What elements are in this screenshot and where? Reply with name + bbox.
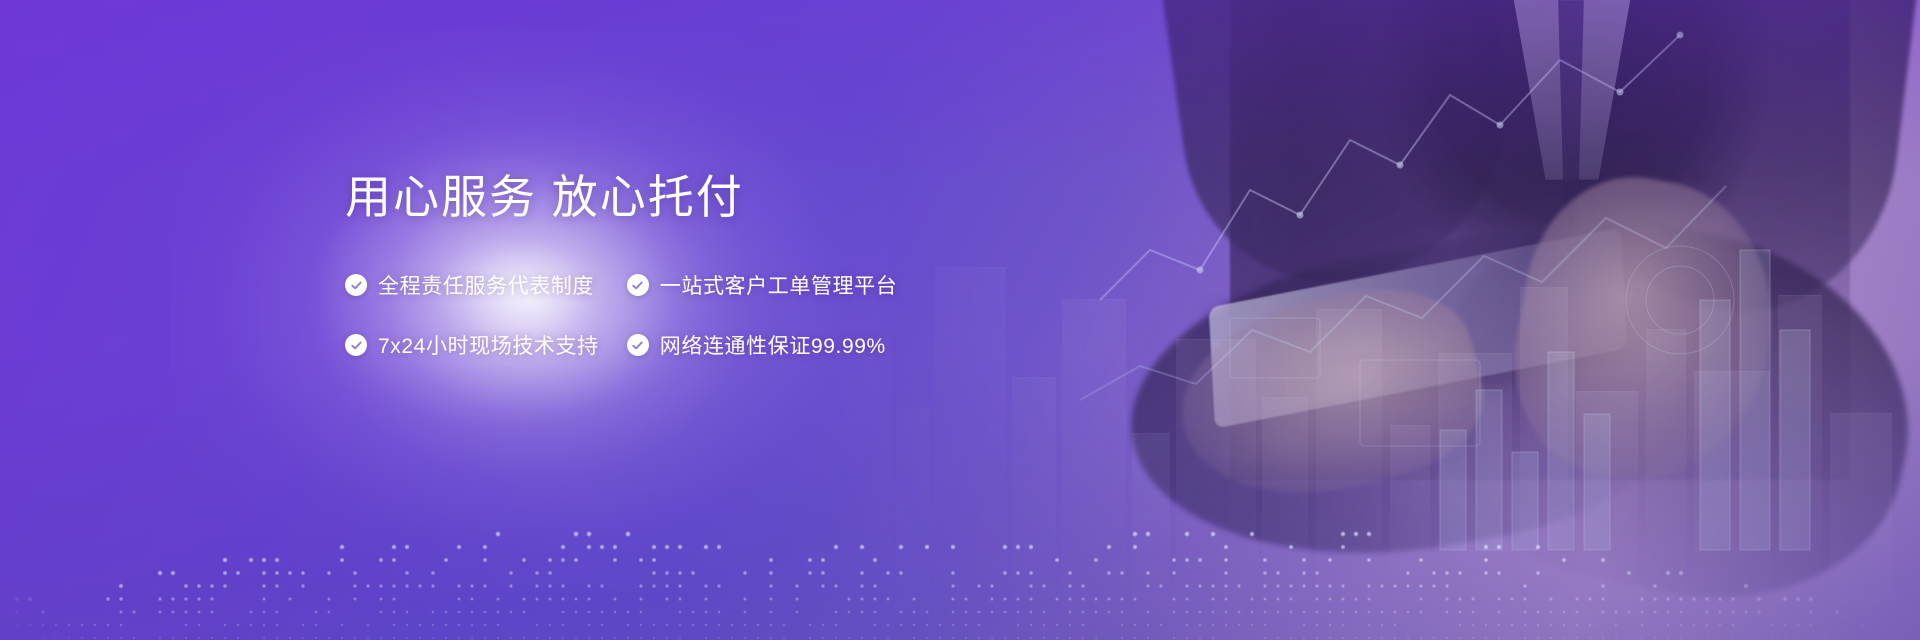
check-circle-icon (345, 274, 367, 296)
check-circle-icon (627, 274, 649, 296)
feature-item-2: 一站式客户工单管理平台 (627, 270, 898, 300)
hero-banner: 用心服务 放心托付 全程责任服务代表制度 一站式客户工单管理平台 (0, 0, 1920, 640)
feature-label: 全程责任服务代表制度 (378, 270, 594, 300)
feature-label: 网络连通性保证99.99% (660, 330, 886, 360)
page-title: 用心服务 放心托付 (345, 170, 965, 224)
feature-item-1: 全程责任服务代表制度 (345, 270, 599, 300)
feature-label: 7x24小时现场技术支持 (378, 330, 599, 360)
check-circle-icon (345, 334, 367, 356)
feature-item-3: 7x24小时现场技术支持 (345, 330, 599, 360)
banner-content: 用心服务 放心托付 全程责任服务代表制度 一站式客户工单管理平台 (345, 170, 965, 360)
feature-list: 全程责任服务代表制度 一站式客户工单管理平台 7x24小时现场技术支持 (345, 270, 965, 360)
feature-label: 一站式客户工单管理平台 (660, 270, 898, 300)
feature-item-4: 网络连通性保证99.99% (627, 330, 898, 360)
check-circle-icon (627, 334, 649, 356)
